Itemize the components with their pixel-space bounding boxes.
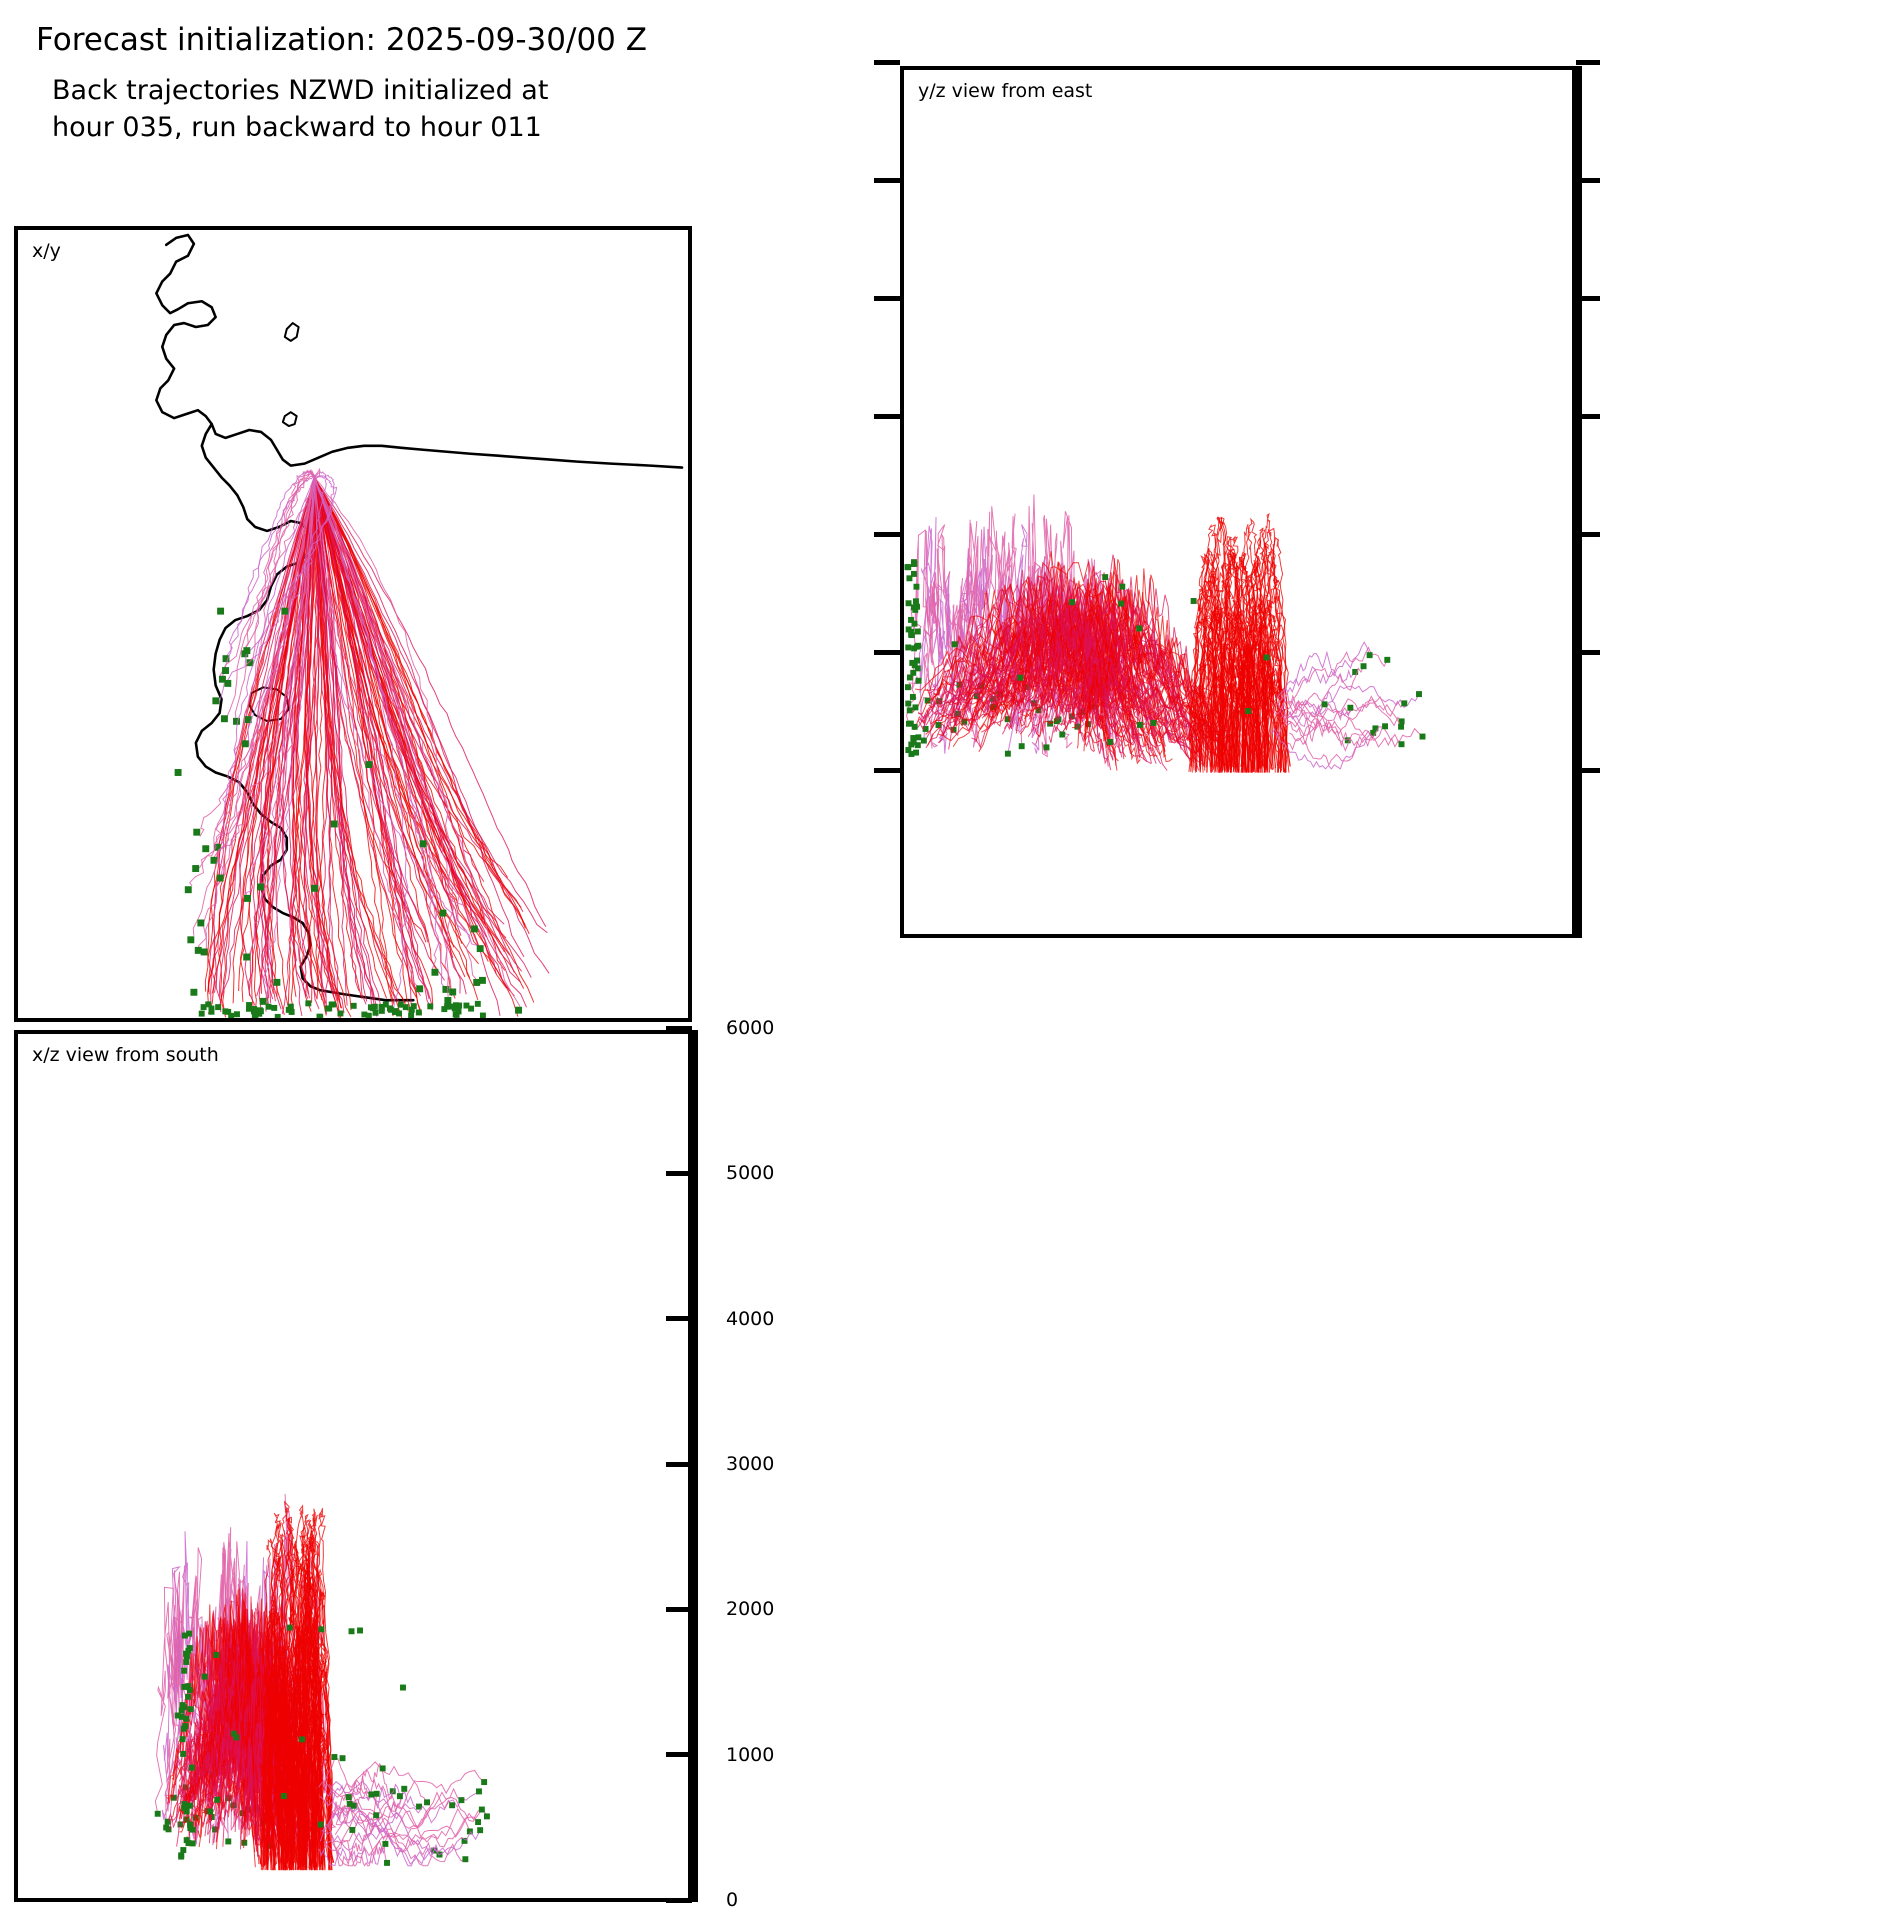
panel-xz-label: x/z view from south bbox=[32, 1044, 219, 1066]
xz-tick-label: 0 bbox=[726, 1889, 738, 1911]
xz-tick-label: 2000 bbox=[726, 1598, 774, 1620]
yz-rail-tick bbox=[1576, 60, 1600, 65]
page-title: Forecast initialization: 2025-09-30/00 Z bbox=[36, 22, 647, 58]
yz-rail-tick bbox=[1576, 650, 1600, 655]
yz-axis-rail bbox=[1576, 66, 1582, 938]
yz-plot-canvas bbox=[904, 70, 1572, 934]
panel-yz-label: y/z view from east bbox=[918, 80, 1092, 102]
xz-tick-label: 1000 bbox=[726, 1744, 774, 1766]
xy-plot-canvas bbox=[18, 230, 688, 1018]
xz-tick-mark bbox=[666, 1898, 692, 1903]
xz-tick-mark bbox=[666, 1462, 692, 1467]
yz-tick-mark bbox=[874, 178, 900, 183]
yz-tick-mark bbox=[874, 60, 900, 65]
panel-xy-label: x/y bbox=[32, 240, 61, 262]
subtitle-line-2: hour 035, run backward to hour 011 bbox=[52, 112, 542, 143]
xz-tick-label: 3000 bbox=[726, 1453, 774, 1475]
xz-axis-rail bbox=[692, 1030, 698, 1902]
yz-tick-mark bbox=[874, 296, 900, 301]
panel-xz-cross-section[interactable]: x/z view from south bbox=[14, 1030, 692, 1902]
yz-rail-tick bbox=[1576, 178, 1600, 183]
yz-rail-tick bbox=[1576, 296, 1600, 301]
xz-tick-label: 6000 bbox=[726, 1017, 774, 1039]
header-block: Forecast initialization: 2025-09-30/00 Z… bbox=[0, 0, 820, 185]
xz-tick-label: 5000 bbox=[726, 1162, 774, 1184]
panel-yz-cross-section[interactable]: y/z view from east bbox=[900, 66, 1576, 938]
yz-tick-mark bbox=[874, 414, 900, 419]
yz-tick-mark bbox=[874, 768, 900, 773]
xz-tick-mark bbox=[666, 1752, 692, 1757]
yz-rail-tick bbox=[1576, 768, 1600, 773]
yz-tick-mark bbox=[874, 532, 900, 537]
xz-tick-mark bbox=[666, 1026, 692, 1031]
subtitle-line-1: Back trajectories NZWD initialized at bbox=[52, 75, 548, 106]
yz-rail-tick bbox=[1576, 532, 1600, 537]
xz-tick-mark bbox=[666, 1171, 692, 1176]
yz-tick-mark bbox=[874, 650, 900, 655]
xz-plot-canvas bbox=[18, 1034, 688, 1898]
xz-tick-mark bbox=[666, 1316, 692, 1321]
yz-rail-tick bbox=[1576, 414, 1600, 419]
xz-tick-mark bbox=[666, 1607, 692, 1612]
xz-tick-label: 4000 bbox=[726, 1308, 774, 1330]
panel-xy-plan-view[interactable]: x/y bbox=[14, 226, 692, 1022]
